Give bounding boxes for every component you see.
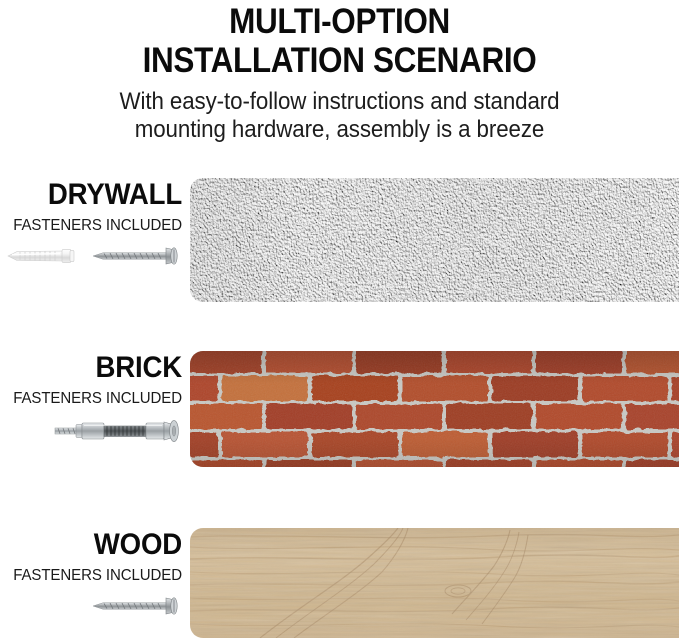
sleeve-expansion-anchor-icon <box>52 416 182 446</box>
wood-hardware-group <box>0 593 182 619</box>
header: MULTI-OPTION INSTALLATION SCENARIO With … <box>0 0 679 144</box>
drywall-texture-swatch <box>190 178 679 302</box>
wood-texture-swatch <box>190 528 679 638</box>
drywall-hardware-group <box>0 243 182 269</box>
brick-hardware-group <box>0 416 182 446</box>
installation-row-wood: WOOD FASTENERS INCLUDED <box>0 528 679 640</box>
fasteners-included-label-drywall: FASTENERS INCLUDED <box>11 216 182 236</box>
page-title-line-2: INSTALLATION SCENARIO <box>34 41 645 81</box>
installation-row-drywall: DRYWALL FASTENERS INCLUDED <box>0 178 679 302</box>
material-name-brick: BRICK <box>15 351 182 385</box>
material-name-drywall: DRYWALL <box>15 178 182 212</box>
drywall-info-column: DRYWALL FASTENERS INCLUDED <box>0 178 182 269</box>
page-title-line-1: MULTI-OPTION <box>34 2 645 41</box>
material-name-wood: WOOD <box>15 528 182 562</box>
brick-texture-swatch <box>190 351 679 467</box>
fasteners-included-label-wood: FASTENERS INCLUDED <box>11 566 182 586</box>
plastic-wall-anchor-icon <box>3 243 79 269</box>
page-subtitle-line-1: With easy-to-follow instructions and sta… <box>24 88 655 116</box>
screw-icon <box>90 243 182 269</box>
installation-row-brick: BRICK FASTENERS INCLUDED <box>0 351 679 469</box>
brick-info-column: BRICK FASTENERS INCLUDED <box>0 351 182 446</box>
wood-screw-icon <box>90 593 182 619</box>
wood-info-column: WOOD FASTENERS INCLUDED <box>0 528 182 619</box>
page-subtitle-line-2: mounting hardware, assembly is a breeze <box>24 116 655 144</box>
fasteners-included-label-brick: FASTENERS INCLUDED <box>11 389 182 409</box>
